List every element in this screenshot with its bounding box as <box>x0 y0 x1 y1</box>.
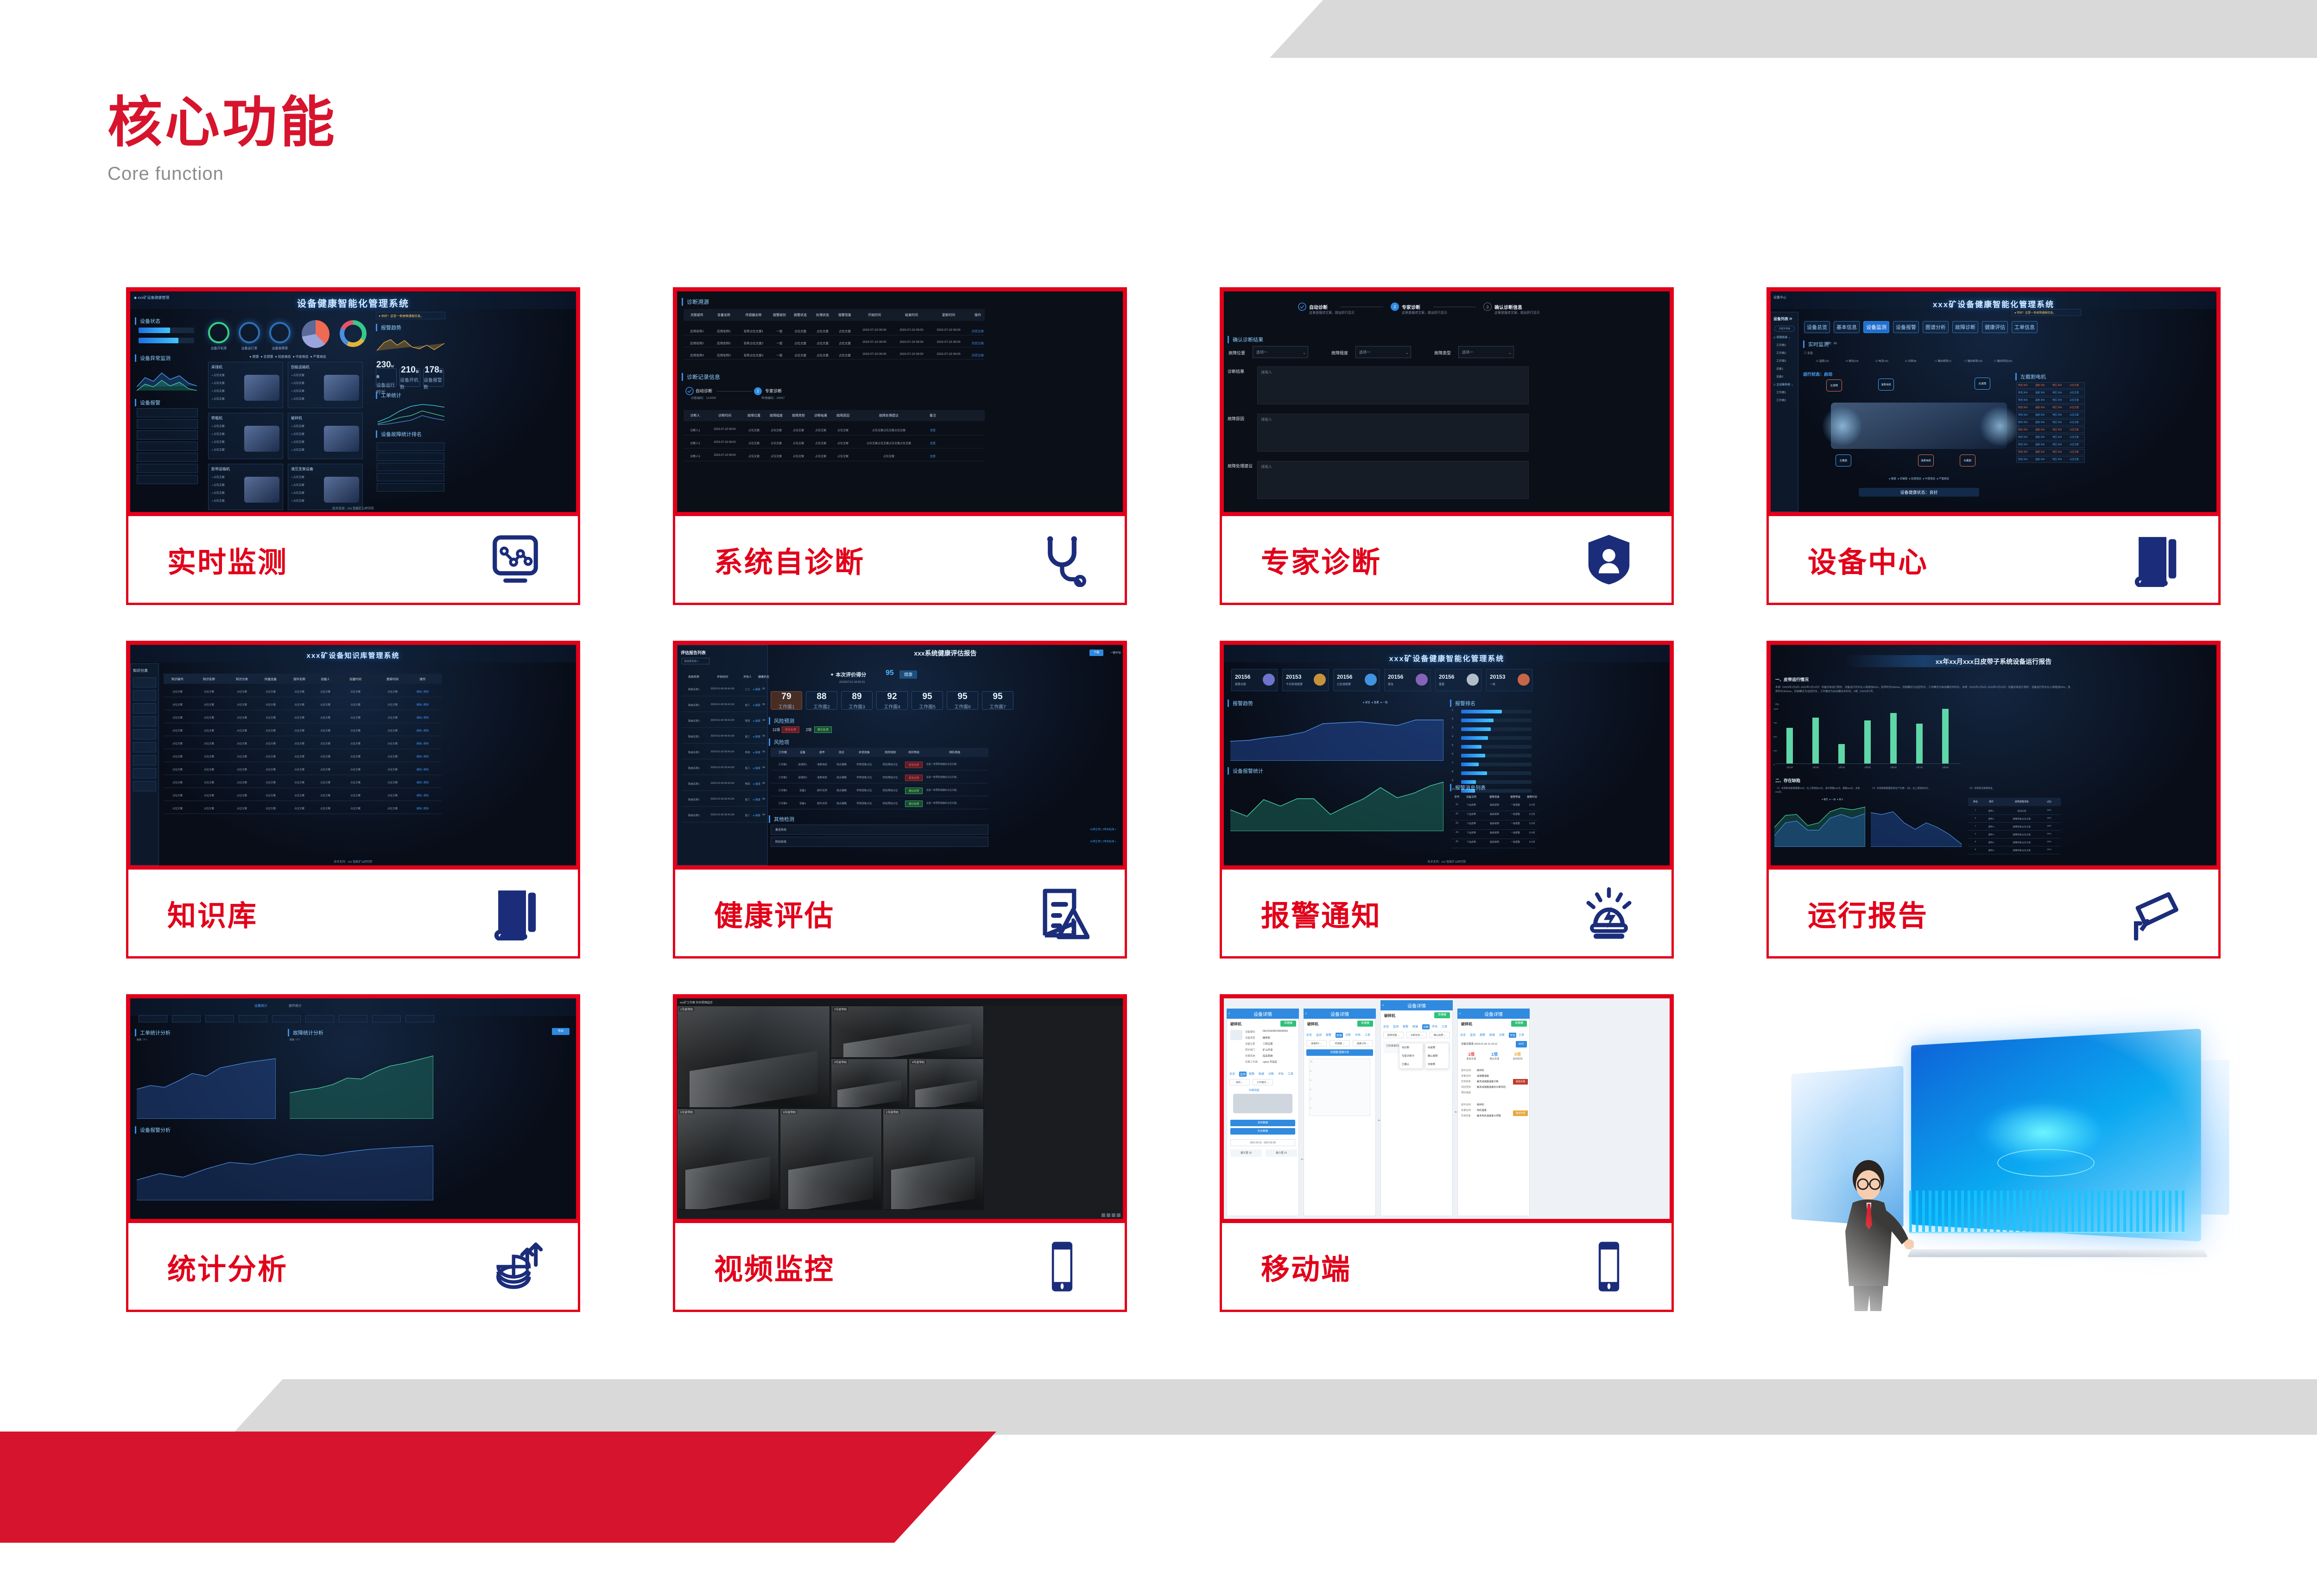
hotspot-label[interactable]: 左截割 <box>1836 454 1851 467</box>
table-cell: 轴承故障 <box>1481 840 1507 844</box>
mobile-tab[interactable]: 监测 <box>1393 1024 1399 1028</box>
video-cell-label: 2号皮带机 <box>833 1007 848 1011</box>
mobile-tab[interactable]: 评估 <box>1509 1033 1516 1038</box>
detail-value: 触发电机温度重大预警 <box>1477 1114 1501 1117</box>
mobile-tab[interactable]: 评估 <box>1355 1033 1361 1037</box>
mobile-select[interactable]: 传感器 ⌄ <box>1329 1040 1350 1047</box>
feature-label-bar[interactable]: 设备中心 <box>1766 516 2221 605</box>
checkbox-0[interactable]: ☑ 温度(12) <box>1816 359 1829 363</box>
feature-card[interactable]: 设备详情‹破碎机亚健康设备编码DEVICEINFO0000003设备类型破碎机设… <box>1220 994 1674 1314</box>
sidebar-item[interactable] <box>133 703 156 713</box>
table-cell: 一级报警 <box>1507 822 1523 825</box>
feature-label-text: 统计分析 <box>167 1246 288 1287</box>
feature-screenshot: xxx矿设备健康智能化管理系统20156报警总数20153今日新增报警20156… <box>1220 641 1674 870</box>
feature-label-bar[interactable]: 健康评估 <box>673 870 1127 959</box>
chevron-down-icon: ⌄ <box>1303 351 1306 355</box>
footer-text: 技术支持：xxx 智能矿山研究院 <box>1224 859 1670 864</box>
table-cell: 占位文案 <box>374 742 411 745</box>
filter-chip[interactable] <box>305 1015 334 1022</box>
table-cell: 占位文案 <box>314 716 337 719</box>
mobile-phone-icon <box>1582 1239 1636 1294</box>
hotspot-label[interactable]: 油泵电机 <box>1918 454 1934 467</box>
sensor-value: 电压 36A <box>2052 421 2062 424</box>
sensor-value: 占位文案 <box>2070 428 2079 431</box>
mobile-tab[interactable]: 图谱 <box>1259 1072 1264 1076</box>
footer-text: 技术支持：xxx 智能矿山研究院 <box>130 859 576 864</box>
feature-label-bar[interactable]: 运行报告 <box>1766 870 2221 959</box>
mobile-tab[interactable]: 图谱 <box>1412 1024 1418 1028</box>
hotspot-label[interactable]: 油泵电机 <box>1878 378 1894 391</box>
table-cell: 占位文案 <box>810 428 832 432</box>
field-key: 设备编码 <box>1245 1030 1255 1034</box>
table-cell: 应用名称3 <box>684 353 710 357</box>
table-cell: 3 <box>1970 825 1981 827</box>
video-cell[interactable]: 1号皮带机 <box>677 1006 830 1108</box>
presenter-figure <box>1840 1158 1914 1311</box>
hotspot-label[interactable]: 右截割 <box>1960 454 1975 467</box>
sidebar-tree-item[interactable]: 设备1 <box>1776 366 1783 371</box>
filter-chip[interactable] <box>139 1015 167 1022</box>
table-cell: 占位文案 <box>190 716 228 719</box>
mobile-select[interactable]: 诊断状态 ⌄ <box>1406 1032 1427 1038</box>
table-header-cell: 序号 <box>1453 795 1461 799</box>
workface-score: 88工作面2 <box>806 691 837 710</box>
sidebar-tree-item[interactable]: 工作面1 <box>1776 343 1786 347</box>
risk-suggest-tag: 建议处理 <box>814 726 832 733</box>
menu-item[interactable]: 专家诊断中 <box>1399 1052 1423 1060</box>
table-cell: 电流过高 <box>2001 809 2042 813</box>
mobile-button[interactable]: 历史数据 <box>1230 1128 1295 1135</box>
decorative-band-bottom-gray <box>232 1379 2317 1435</box>
export-button[interactable]: 导出 <box>552 1028 570 1035</box>
table-header-cell: 部件 <box>812 750 832 754</box>
mobile-tab[interactable]: 评估 <box>1278 1072 1284 1076</box>
sidebar-item[interactable] <box>133 690 156 700</box>
tab-5[interactable]: 故障诊断 <box>1952 321 1978 333</box>
sidebar-item[interactable] <box>133 677 156 688</box>
table-cell: 系统名称1 <box>682 782 706 786</box>
back-icon[interactable]: ‹ <box>1382 1003 1384 1007</box>
status-badge: ● 健康 <box>753 798 760 801</box>
status-badge: 亚健康 <box>1434 1012 1450 1018</box>
sensor-value: 电压 36A <box>2052 384 2062 387</box>
table-cell: 占位文案 <box>165 768 190 771</box>
device-card-title: 采煤机 <box>211 365 222 370</box>
panel-title: 设备异常监测 <box>135 354 171 362</box>
mobile-tab[interactable]: 监测 <box>1239 1072 1247 1077</box>
tab-6[interactable]: 健康评估 <box>1982 321 2008 333</box>
table-header-cell: 故障类型 <box>787 413 810 418</box>
sidebar-tree-item[interactable]: 工作面2 <box>1776 351 1786 355</box>
table-cell: 报警现象占位文案 <box>2001 825 2042 828</box>
search-input[interactable]: 关键字搜索 <box>1774 326 1795 332</box>
table-cell: 占位文案 <box>765 428 787 432</box>
table-cell: 应用名称1 <box>684 328 710 333</box>
feature-card[interactable]: xxx矿工作面 实时视频监控1号皮带机2号皮带机3号皮带机4号皮带机5号皮带机6… <box>673 994 1127 1314</box>
step-desc: 这里是描述文案，超出折行显示 <box>1309 311 1365 316</box>
table-cell: 名称占位文案2 <box>737 341 770 345</box>
sidebar-item[interactable] <box>133 729 156 739</box>
mobile-tab[interactable]: 诊断 <box>1499 1033 1505 1037</box>
mobile-tab[interactable]: 诊断 <box>1268 1072 1274 1076</box>
filter-chip[interactable] <box>372 1015 401 1022</box>
sensor-value: 温度 36A <box>2035 450 2045 454</box>
feature-card[interactable]: 评估报告列表请选择系统 ⌕系统名称评估时间评估人健康状态系统名称12020-01… <box>673 641 1127 960</box>
counter-value: 1项 <box>1461 1051 1481 1057</box>
feature-label-bar[interactable]: 移动端 <box>1220 1223 1674 1312</box>
menu-item[interactable]: 已确认 <box>1399 1060 1423 1068</box>
table-cell: 占位文案 <box>789 353 811 357</box>
table-header-cell: 测点 <box>832 750 851 754</box>
table-cell: 占位文案 <box>337 729 374 732</box>
table-cell: 2020-01-02 09:41:00 <box>706 814 739 816</box>
sensor-value: 温度 36A <box>2035 443 2045 446</box>
tab-7[interactable]: 工单信息 <box>2012 321 2038 333</box>
sidebar-tree-item[interactable]: ◇ 采煤系统 ⌄ <box>1773 335 1791 339</box>
menu-item[interactable]: 确认故障 <box>1425 1052 1449 1060</box>
tab-4[interactable]: 图谱分析 <box>1923 321 1949 333</box>
tab-0[interactable]: 设备统计 <box>254 1003 267 1008</box>
risk-level-tag: 建议处理 <box>905 801 923 807</box>
screenshot-content: 设备中心xxx矿设备健康智能化管理系统● 你好！这是一条故障通报信息。设备列表 … <box>1771 291 2216 512</box>
table-cell: 4 <box>1970 833 1981 835</box>
screenshot-content: xx年xx月xxx日皮带子系统设备运行报告一、皮带运行情况本周（2023年1月9… <box>1771 645 2216 865</box>
checkbox-2[interactable]: ☑ 电流(15) <box>1875 359 1888 363</box>
sidebar-item[interactable] <box>133 742 156 752</box>
feature-label-bar[interactable]: 知识库 <box>126 870 580 959</box>
table-cell: 查看 <box>924 428 942 432</box>
tab-1[interactable]: 基本信息 <box>1834 321 1860 333</box>
sidebar-tree-item[interactable]: 工作面3 <box>1776 359 1786 363</box>
filter-chip[interactable] <box>405 1015 434 1022</box>
table-cell: 占位文案 <box>314 703 337 707</box>
mobile-tab[interactable]: 工单 <box>1365 1033 1370 1037</box>
counter-value: 1项 <box>1484 1051 1505 1057</box>
checkbox-all[interactable]: ☐ 全选 <box>1804 351 1813 355</box>
risk-suggest-count: 2项 <box>806 727 811 732</box>
section-title: 报警排名 <box>1450 700 1475 707</box>
sidebar-tree-item[interactable]: 设备2 <box>1776 374 1783 378</box>
table-cell: 占位文案 <box>337 807 374 810</box>
feature-label-text: 运行报告 <box>1808 892 1928 934</box>
dropdown-menu[interactable]: 待诊断专家诊断中已确认 <box>1399 1043 1423 1069</box>
kpi-card: 230h/台设备运行时长 <box>376 368 397 387</box>
table-cell: 占位文案 <box>337 768 374 771</box>
filter-chip[interactable] <box>172 1015 201 1022</box>
status-badge: ● 健康 <box>753 688 760 691</box>
checkbox-6[interactable]: ☐ 输出转矩(10) <box>1994 359 2012 363</box>
risk-urgent-count: 11项 <box>772 727 780 732</box>
sensor-value: 电流 36A <box>2018 384 2027 387</box>
video-cell[interactable]: 4号皮带机 <box>909 1059 984 1108</box>
axis-label: 数量（个） <box>137 1038 148 1041</box>
score-time: 2023/07/12 18:30:23 <box>839 681 865 684</box>
checkbox-3[interactable]: ☑ 功率(8) <box>1905 359 1917 363</box>
checkbox-4[interactable]: ☐ 输出频率(7) <box>1935 359 1951 363</box>
stat-chip: 最大值 10 <box>1230 1149 1262 1157</box>
assess-score: 80分 <box>1516 1041 1527 1047</box>
mobile-tab[interactable]: 诊断 <box>1422 1024 1430 1029</box>
device-card-title: 液压支架设备 <box>291 467 313 472</box>
feature-label-text: 视频监控 <box>714 1246 835 1287</box>
table-cell: 占位文案 <box>256 703 285 707</box>
decorative-band-bottom-red <box>0 1432 996 1543</box>
workface-score: 92工作面4 <box>876 691 908 710</box>
feature-label-bar[interactable]: 视频监控 <box>673 1223 1127 1312</box>
sensor-value: 温度 36A <box>2035 391 2045 394</box>
kpi-label: 一般 <box>1490 682 1495 686</box>
mobile-button[interactable]: 实时数据 <box>1230 1120 1295 1126</box>
table-header-cell: 更新时间 <box>930 313 967 317</box>
hologram-equalizer <box>1909 1191 2187 1233</box>
menu-item[interactable]: 待诊断 <box>1399 1043 1423 1052</box>
feature-label-bar[interactable]: 专家诊断 <box>1220 516 1674 605</box>
feature-card[interactable]: 诊断溯源关联部件变量名称传感器名称报警级别报警状态处理状态报警现象开始时间结束时… <box>673 287 1127 607</box>
table-cell: 异常现象占位 <box>851 801 877 805</box>
table-cell: 占位文案 <box>285 794 314 797</box>
filter-chip[interactable] <box>272 1015 301 1022</box>
table-cell: 编辑 | 删除 <box>411 716 434 719</box>
step-desc: 这里是描述文案，超出折行显示 <box>1402 311 1457 316</box>
table-cell: 占位文案 <box>165 807 190 810</box>
table-header-cell: 评估人 <box>739 675 756 679</box>
feature-card[interactable]: 设备中心xxx矿设备健康智能化管理系统● 你好！这是一条故障通报信息。设备列表 … <box>1766 287 2221 607</box>
table-cell: 占位文案 <box>228 716 256 719</box>
feature-label-bar[interactable]: 报警通知 <box>1220 870 1674 959</box>
table-header-cell: 更新时间 <box>374 676 411 681</box>
table-header-cell: 报警现象 <box>1481 795 1507 799</box>
table-cell: 占位文案 <box>190 781 228 784</box>
mobile-tab[interactable]: 图谱 <box>1336 1033 1343 1038</box>
mobile-select[interactable]: 工作模式 ⌄ <box>1253 1079 1273 1085</box>
feature-label-bar[interactable]: 系统自诊断 <box>673 516 1127 605</box>
sensor-value: 电压 36A <box>2052 443 2062 446</box>
risk-urgent-tag: 紧急处理 <box>782 726 799 733</box>
feature-screenshot: xx年xx月xxx日皮带子系统设备运行报告一、皮带运行情况本周（2023年1月9… <box>1766 641 2221 870</box>
table-cell: 轴承故障 <box>1481 822 1507 825</box>
mobile-tab[interactable]: 监测 <box>1470 1033 1475 1037</box>
feature-card[interactable]: 设备统计部件统计工单统计分析故障统计分析导出数量（个）数量（个）设备报警分析统计… <box>126 994 580 1314</box>
select-value: 选项一 <box>1359 350 1370 355</box>
table-cell: 历史记录 <box>967 328 988 333</box>
sidebar-item[interactable] <box>133 781 156 791</box>
video-cell[interactable]: 5号皮带机 <box>677 1109 779 1210</box>
mobile-select[interactable]: 减速机1 ⌄ <box>1306 1040 1327 1047</box>
counter-label: 建议处理 <box>1484 1057 1505 1060</box>
tab-2[interactable]: 设备监测 <box>1863 321 1889 333</box>
table-cell: 设备4 <box>793 801 812 805</box>
table-cell: 占位文案 <box>256 716 285 719</box>
mobile-tab[interactable]: 报警 <box>1326 1033 1331 1037</box>
textarea-field[interactable] <box>1257 461 1529 499</box>
mobile-tab[interactable]: 工单 <box>1288 1072 1293 1076</box>
assess-button[interactable]: 一键评估 <box>1110 650 1121 655</box>
alarm-dashboard-page: xxx矿设备健康智能化管理系统20156报警总数20153今日新增报警20156… <box>1224 645 1670 865</box>
section-title: 报警趋势 <box>1228 700 1253 707</box>
table-cell: 占位文案 <box>285 807 314 810</box>
table-cell: 占位文案 <box>832 428 854 432</box>
table-cell: 部件2 <box>1981 817 2001 820</box>
table-cell: 测点缩略 <box>832 801 851 805</box>
table-cell: 报警现象占位文案 <box>2001 833 2042 836</box>
risk-level-tag: 建议处理 <box>905 788 923 794</box>
table-cell: 风险预测占位 <box>877 776 903 779</box>
checkbox-5[interactable]: ☐ 输出频率(14) <box>1964 359 1982 363</box>
sidebar-item[interactable] <box>133 755 156 765</box>
search-input[interactable]: 请选择系统 ⌕ <box>682 658 709 664</box>
other-row-status: 10项正常 | 2项未检测 > <box>1090 827 1116 831</box>
table-cell: 2023-07-23 09:00 <box>930 341 967 344</box>
rank-label: 7 <box>1452 762 1453 764</box>
feature-label-bar[interactable]: 统计分析 <box>126 1223 580 1312</box>
rank-label: 8 <box>1452 770 1453 773</box>
table-cell: 占位文案 <box>374 807 411 810</box>
mobile-tab[interactable]: 总览 <box>1306 1033 1312 1037</box>
axis-tick: 1月7日 <box>1910 766 1929 769</box>
tab-0[interactable]: 设备总览 <box>1804 321 1830 333</box>
sidebar-tree-item[interactable]: 工作面1 <box>1776 390 1786 394</box>
dropdown-menu[interactable]: 未故障确认故障非故障 <box>1425 1043 1449 1069</box>
table-cell: 系统名称3 <box>682 766 706 770</box>
mobile-select[interactable]: 电机 ⌄ <box>1229 1079 1250 1085</box>
table-cell: 部件6 <box>1981 849 2001 852</box>
mobile-tab[interactable]: 诊断 <box>1345 1033 1351 1037</box>
kpi-label: 重要 <box>1439 682 1444 686</box>
sensor-value: 电流 36A <box>2018 421 2027 424</box>
table-cell: 占位文案 <box>743 428 765 432</box>
mobile-tab[interactable]: 总览 <box>1229 1072 1235 1076</box>
table-cell: 测点缩略 <box>832 789 851 792</box>
axis-tick: 0 <box>1310 1107 1311 1109</box>
mobile-tab[interactable]: 报警 <box>1249 1072 1254 1076</box>
mobile-tab[interactable]: 报警 <box>1480 1033 1485 1037</box>
textarea-field[interactable] <box>1257 366 1529 404</box>
feature-card[interactable]: xx年xx月xxx日皮带子系统设备运行报告一、皮带运行情况本周（2023年1月9… <box>1766 641 2221 960</box>
sidebar-title: 知识分类 <box>133 668 148 673</box>
tab-1[interactable]: 部件统计 <box>289 1003 302 1008</box>
feature-label-bar[interactable]: 实时监测 <box>126 516 580 605</box>
mobile-tab[interactable]: 评估 <box>1432 1024 1437 1028</box>
mobile-tab[interactable]: 工单 <box>1519 1033 1524 1037</box>
video-cell-label: 1号皮带机 <box>885 1110 900 1114</box>
mobile-select[interactable]: 故障范围 ⌄ <box>1383 1032 1404 1038</box>
feature-card[interactable]: xxx矿设备知识库管理系统知识分类知识编号知识名称知识分类所属设备部件名称创建人… <box>126 641 580 960</box>
video-cell[interactable]: 2号皮带机 <box>831 1006 984 1058</box>
sensor-value: 占位文案 <box>2070 384 2079 387</box>
other-row-label: 暴进系统 <box>775 827 786 832</box>
hologram-ring <box>1997 1149 2095 1177</box>
sensor-value: 电压 36A <box>2052 450 2062 454</box>
textarea-placeholder: 请输入 <box>1261 370 1272 375</box>
mobile-tab[interactable]: 报警 <box>1403 1024 1408 1028</box>
mobile-tab[interactable]: 总览 <box>1460 1033 1466 1037</box>
axis-tick: 1月6日 <box>1884 766 1903 769</box>
feature-screenshot: xxx矿工作面 实时视频监控1号皮带机2号皮带机3号皮带机4号皮带机5号皮带机6… <box>673 994 1127 1223</box>
tab-3[interactable]: 设备报警 <box>1893 321 1919 333</box>
filter-chip[interactable] <box>339 1015 367 1022</box>
detail-key: 异常现象 <box>1461 1080 1471 1083</box>
mobile-tab[interactable]: 工单 <box>1442 1024 1447 1028</box>
mobile-select[interactable]: 温度分析 ⌄ <box>1353 1040 1373 1047</box>
sidebar-tree-item[interactable]: 工作面2 <box>1776 398 1786 402</box>
section-title: 诊断记录信息 <box>682 373 720 381</box>
bar <box>1864 720 1871 763</box>
status-badge: ● 健康 <box>753 751 760 754</box>
download-button[interactable]: 下载 <box>1089 650 1103 656</box>
risk-level-tag: 紧急处理 <box>905 762 923 768</box>
filter-chip[interactable] <box>239 1015 267 1022</box>
mobile-tab[interactable]: 总览 <box>1383 1024 1389 1028</box>
page-title-block: 核心功能 Core function <box>108 95 337 184</box>
video-cell[interactable]: 6号皮带机 <box>780 1109 882 1210</box>
table-cell: 占位文案 <box>811 353 834 357</box>
sidebar-tree-item[interactable]: ◇ 主运输系统 ⌄ <box>1773 382 1793 386</box>
textarea-placeholder: 请输入 <box>1261 464 1272 469</box>
table-cell: 占位文案 <box>285 742 314 745</box>
kpi-value: 20156 <box>1439 674 1454 680</box>
back-icon[interactable]: ‹ <box>1228 1011 1230 1016</box>
sidebar-item[interactable] <box>133 768 156 778</box>
table-cell: 占位文案 <box>743 454 765 458</box>
feature-card[interactable]: 设备健康智能化管理系统◆ xxx矿设备健康管理设备状态设备异常监测设备报警设备开… <box>126 287 580 607</box>
bar <box>1890 713 1897 763</box>
date-range-field[interactable]: 2021-02-01 - 2021-03-28 <box>1230 1139 1295 1146</box>
detail-key: 变量名称 <box>1461 1074 1471 1078</box>
sensor-value: 电流 36A <box>2018 398 2027 402</box>
back-icon[interactable]: ‹ <box>1305 1011 1307 1016</box>
sidebar-item[interactable] <box>133 716 156 726</box>
table-cell: 占位文案 <box>374 768 411 771</box>
field-label: 故障处理建议 <box>1228 463 1253 469</box>
health-state: 设备健康状态：良好 <box>1859 488 1979 497</box>
workface-score: 95工作面5 <box>912 691 943 710</box>
table-cell: 占位文案 <box>314 807 337 810</box>
filter-chip[interactable] <box>205 1015 234 1022</box>
sensor-value: 电流 36A <box>2018 428 2027 431</box>
menu-item[interactable]: 非故障 <box>1425 1060 1449 1068</box>
panel-title: 设备故障统计排名 <box>376 430 422 438</box>
mobile-select[interactable]: 确认结果 ⌄ <box>1430 1032 1450 1038</box>
back-icon[interactable]: ‹ <box>1459 1011 1461 1016</box>
table-cell: 一级报警 <box>1507 831 1523 834</box>
checkbox-1[interactable]: ☑ 振动(14) <box>1846 359 1859 363</box>
hotspot-label[interactable]: 右滚筒 <box>1975 378 1990 390</box>
table-cell: 编辑 | 删除 <box>411 807 434 810</box>
feature-card[interactable]: xxx矿设备健康智能化管理系统20156报警总数20153今日新增报警20156… <box>1220 641 1674 960</box>
table-cell: #4 <box>1453 831 1461 834</box>
feature-screenshot: xxx矿设备知识库管理系统知识分类知识编号知识名称知识分类所属设备部件名称创建人… <box>126 641 580 870</box>
video-cell[interactable]: 3号皮带机 <box>831 1059 908 1108</box>
step-label: 确认诊断信息 <box>1494 303 1522 310</box>
axis-tick: 1000 <box>1773 708 1778 710</box>
feature-card[interactable]: 自动诊断这里是描述文案，超出折行显示2专家诊断这里是描述文案，超出折行显示3确认… <box>1220 287 1674 607</box>
hotspot-label[interactable]: 左滚筒 <box>1826 379 1842 391</box>
sensor-value: 电流 36A <box>2018 413 2027 416</box>
rank-label: 2 <box>1452 718 1453 720</box>
mobile-tab[interactable]: 监测 <box>1316 1033 1322 1037</box>
table-cell: 23% <box>2042 841 2056 843</box>
table-cell: 2小时 <box>1523 822 1541 825</box>
table-cell: 2023-07-23 09:00 <box>856 328 893 332</box>
menu-item[interactable]: 未故障 <box>1425 1043 1449 1052</box>
table-cell: 查看 <box>924 454 942 458</box>
mobile-tab[interactable]: 图谱 <box>1489 1033 1495 1037</box>
field-label: 故障位置 <box>1228 350 1245 356</box>
screenshot-content: 诊断溯源关联部件变量名称传感器名称报警级别报警状态处理状态报警现象开始时间结束时… <box>677 291 1123 512</box>
video-cell[interactable]: 1号皮带机 <box>883 1109 984 1210</box>
textarea-field[interactable] <box>1257 414 1529 452</box>
video-cell-label: 3号皮带机 <box>833 1060 848 1064</box>
